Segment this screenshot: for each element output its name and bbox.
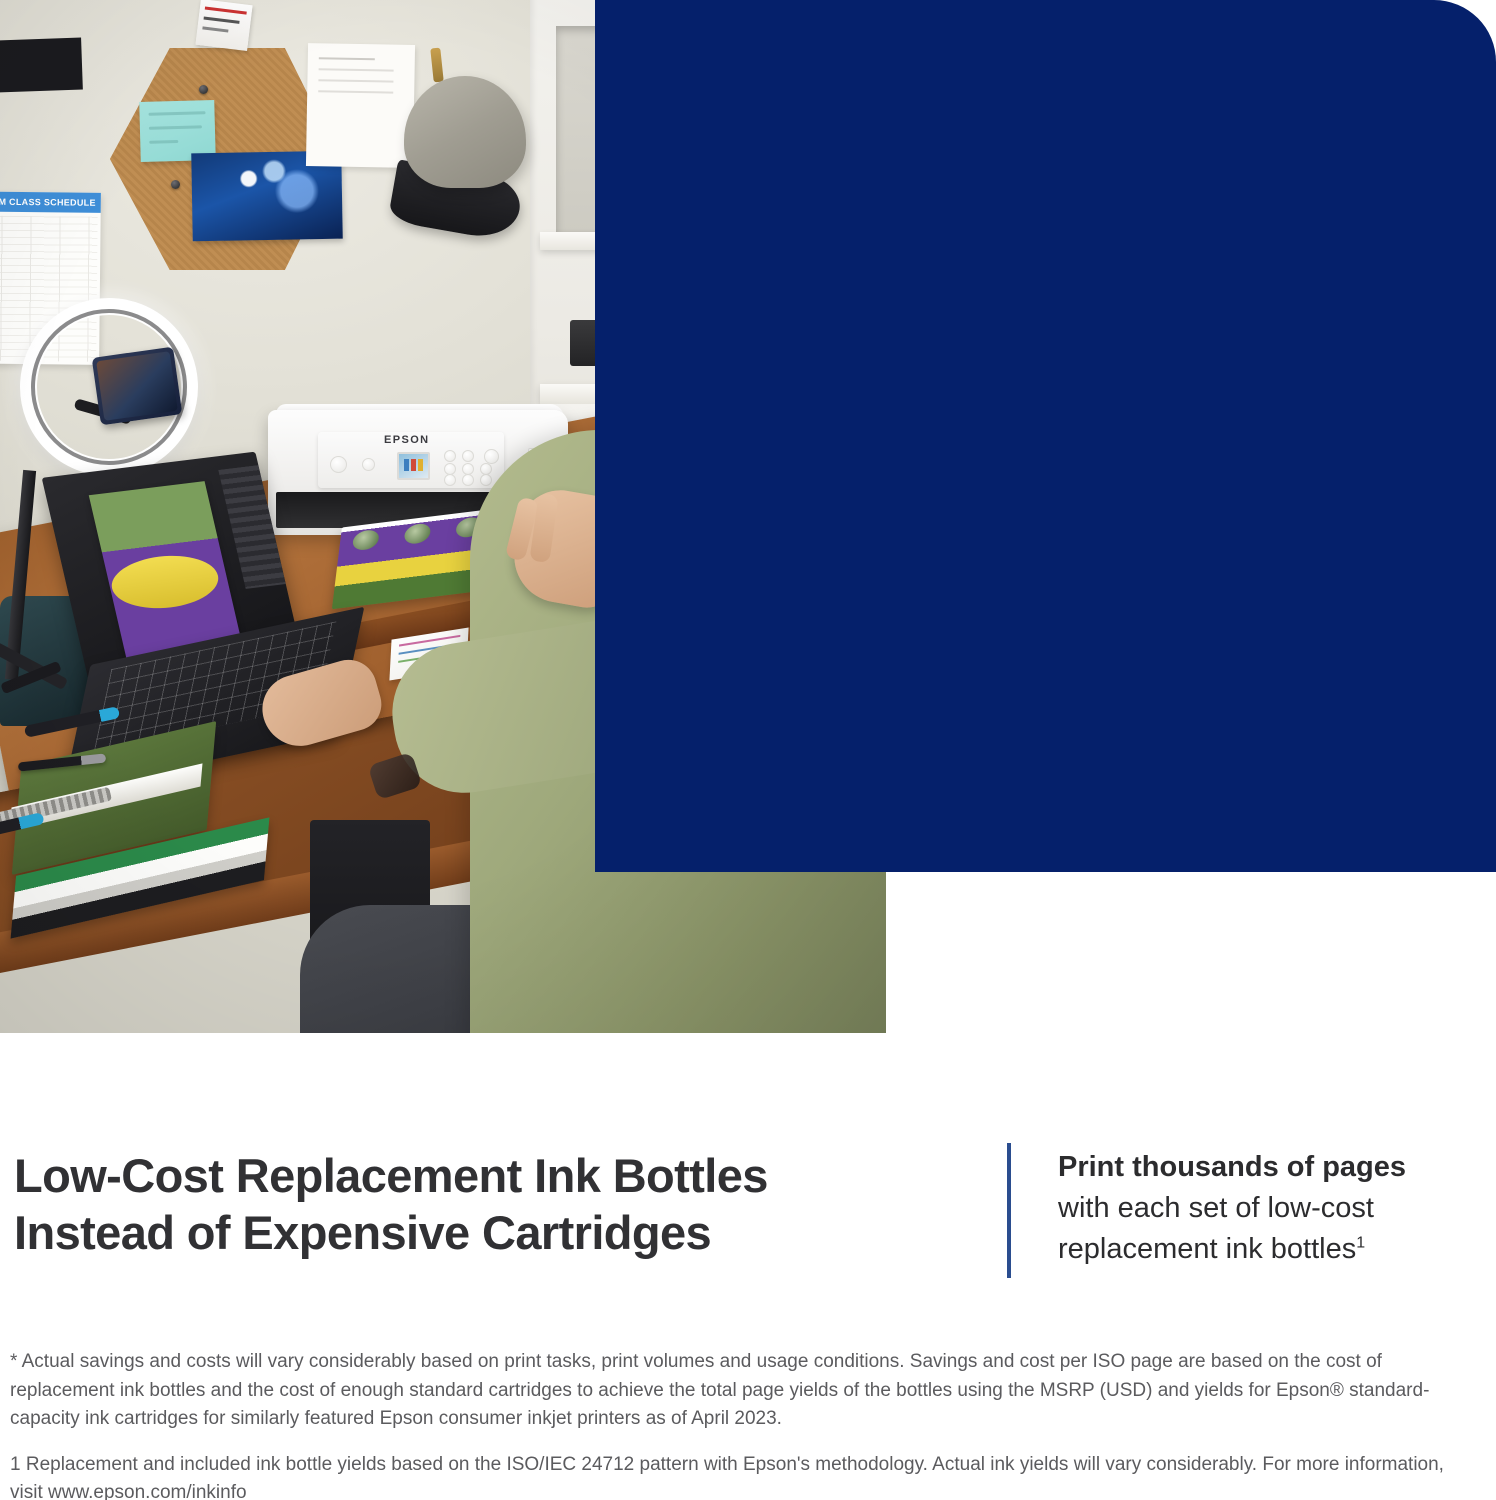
callout-line-1: with each set of low-cost — [1058, 1192, 1374, 1224]
footnote-one: 1 Replacement and included ink bottle yi… — [10, 1451, 1480, 1500]
push-pin — [171, 180, 180, 189]
headline-line-2: Instead of Expensive Cartridges — [14, 1204, 964, 1261]
printer-keypad — [444, 450, 500, 486]
right-callout: Print thousands of pages with each set o… — [1058, 1147, 1478, 1271]
wall-frame — [0, 38, 83, 95]
vertical-divider — [1007, 1143, 1011, 1278]
lower-content-section: Low-Cost Replacement Ink Bottles Instead… — [0, 1135, 1496, 1315]
headline-line-1: Low-Cost Replacement Ink Bottles — [14, 1147, 964, 1204]
smartphone — [92, 347, 183, 426]
phone-screen — [96, 351, 178, 421]
section-headline: Low-Cost Replacement Ink Bottles Instead… — [14, 1147, 964, 1262]
printer-brand-label: EPSON — [384, 434, 430, 446]
wall-document — [306, 43, 415, 168]
callout-line-2: replacement ink bottles — [1058, 1233, 1356, 1265]
pinned-ticket — [195, 0, 252, 51]
push-pin — [199, 85, 208, 94]
callout-footnote-marker: 1 — [1356, 1235, 1365, 1252]
footnotes-block: * Actual savings and costs will vary con… — [10, 1348, 1480, 1500]
power-button — [330, 456, 347, 473]
footnote-asterisk: * Actual savings and costs will vary con… — [10, 1348, 1480, 1434]
hero-blue-panel: Save up to 90% with Replacement Ink Bott… — [595, 0, 1496, 872]
callout-bold-line: Print thousands of pages — [1058, 1147, 1478, 1188]
printer-lcd — [397, 452, 430, 480]
home-button — [362, 458, 375, 471]
marketing-banner: NG · GYM CLASS SCHEDULE EPSON — [0, 0, 1496, 1500]
schedule-title: NG · GYM CLASS SCHEDULE — [0, 191, 101, 213]
